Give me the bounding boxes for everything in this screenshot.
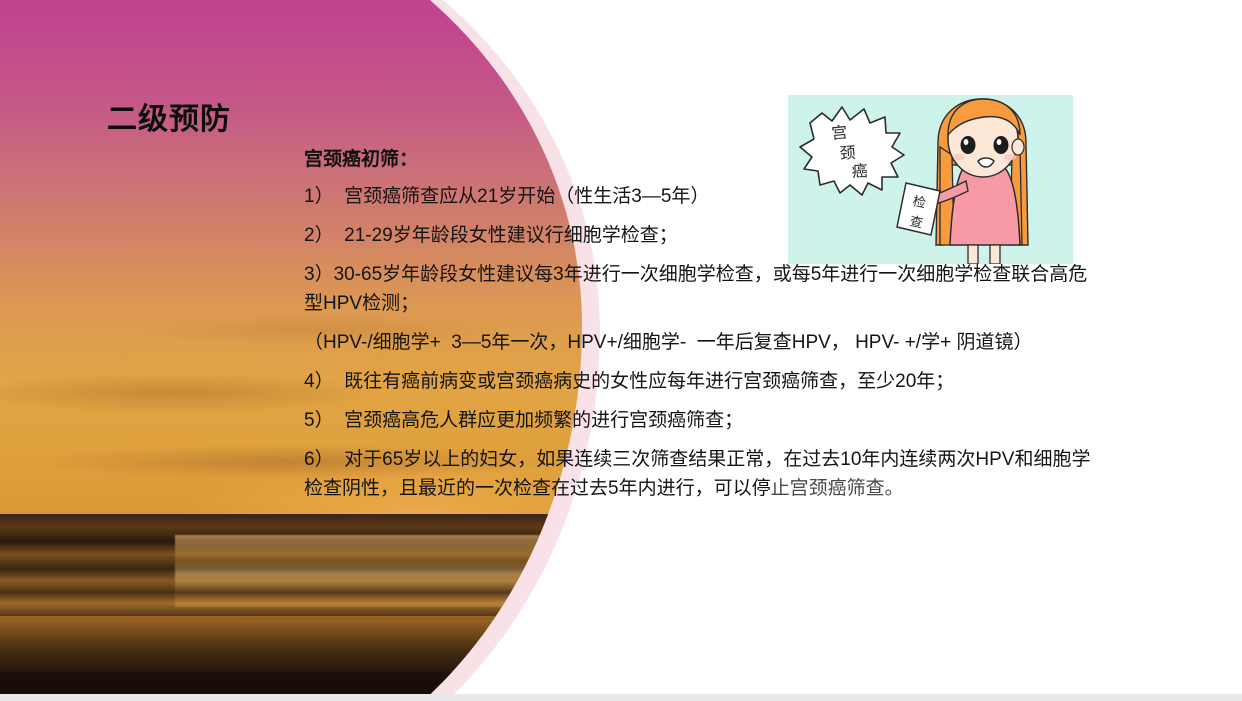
list-item-text: 6） 对于65岁以上的妇女，如果连续三次筛查结果正常，在过去10年内连续两次HP… (304, 449, 1090, 499)
list-item: 4） 既往有癌前病变或宫颈癌病史的女性应每年进行宫颈癌筛查，至少20年； (304, 367, 1099, 396)
list-item-note: （HPV-/细胞学+ 3—5年一次，HPV+/细胞学- 一年后复查HPV， HP… (304, 328, 1099, 357)
bottom-status-strip (0, 694, 1242, 701)
list-item: 3）30-65岁年龄段女性建议每3年进行一次细胞学检查，或每5年进行一次细胞学检… (304, 260, 1099, 318)
list-item: 5） 宫颈癌高危人群应更加频繁的进行宫颈癌筛查； (304, 406, 1094, 435)
burst-text-char-2: 颈 (839, 144, 856, 163)
cartoon-illustration: 宫 颈 癌 (788, 95, 1073, 264)
burst-text-char-3: 癌 (851, 162, 868, 181)
list-item-text-tail: 止宫颈癌筛查。 (771, 478, 904, 499)
illustration-svg: 宫 颈 癌 (788, 95, 1073, 264)
character-eye-left (961, 136, 976, 154)
character-eye-highlight-right (997, 139, 1002, 145)
character-leg-left (968, 245, 978, 264)
character-leg-right (990, 245, 1000, 264)
slide-canvas: 二级预防 宫颈癌初筛： 1） 宫颈癌筛查应从21岁开始（性生活3—5年） 2） … (0, 0, 1242, 701)
photo-foreground (0, 672, 582, 694)
burst-text-char-1: 宫 (831, 123, 849, 143)
character-eye-right (994, 136, 1009, 154)
character-blush-right (1004, 154, 1016, 161)
page-title: 二级预防 (107, 94, 231, 138)
list-item: 6） 对于65岁以上的妇女，如果连续三次筛查结果正常，在过去10年内连续两次HP… (304, 445, 1094, 503)
character-eye-highlight-left (964, 139, 969, 145)
photo-sea-reflection (175, 535, 582, 608)
character-blush-left (953, 154, 965, 161)
character-dress (950, 167, 1020, 245)
character-ear (1012, 139, 1024, 155)
photo-shoreline (0, 616, 582, 681)
